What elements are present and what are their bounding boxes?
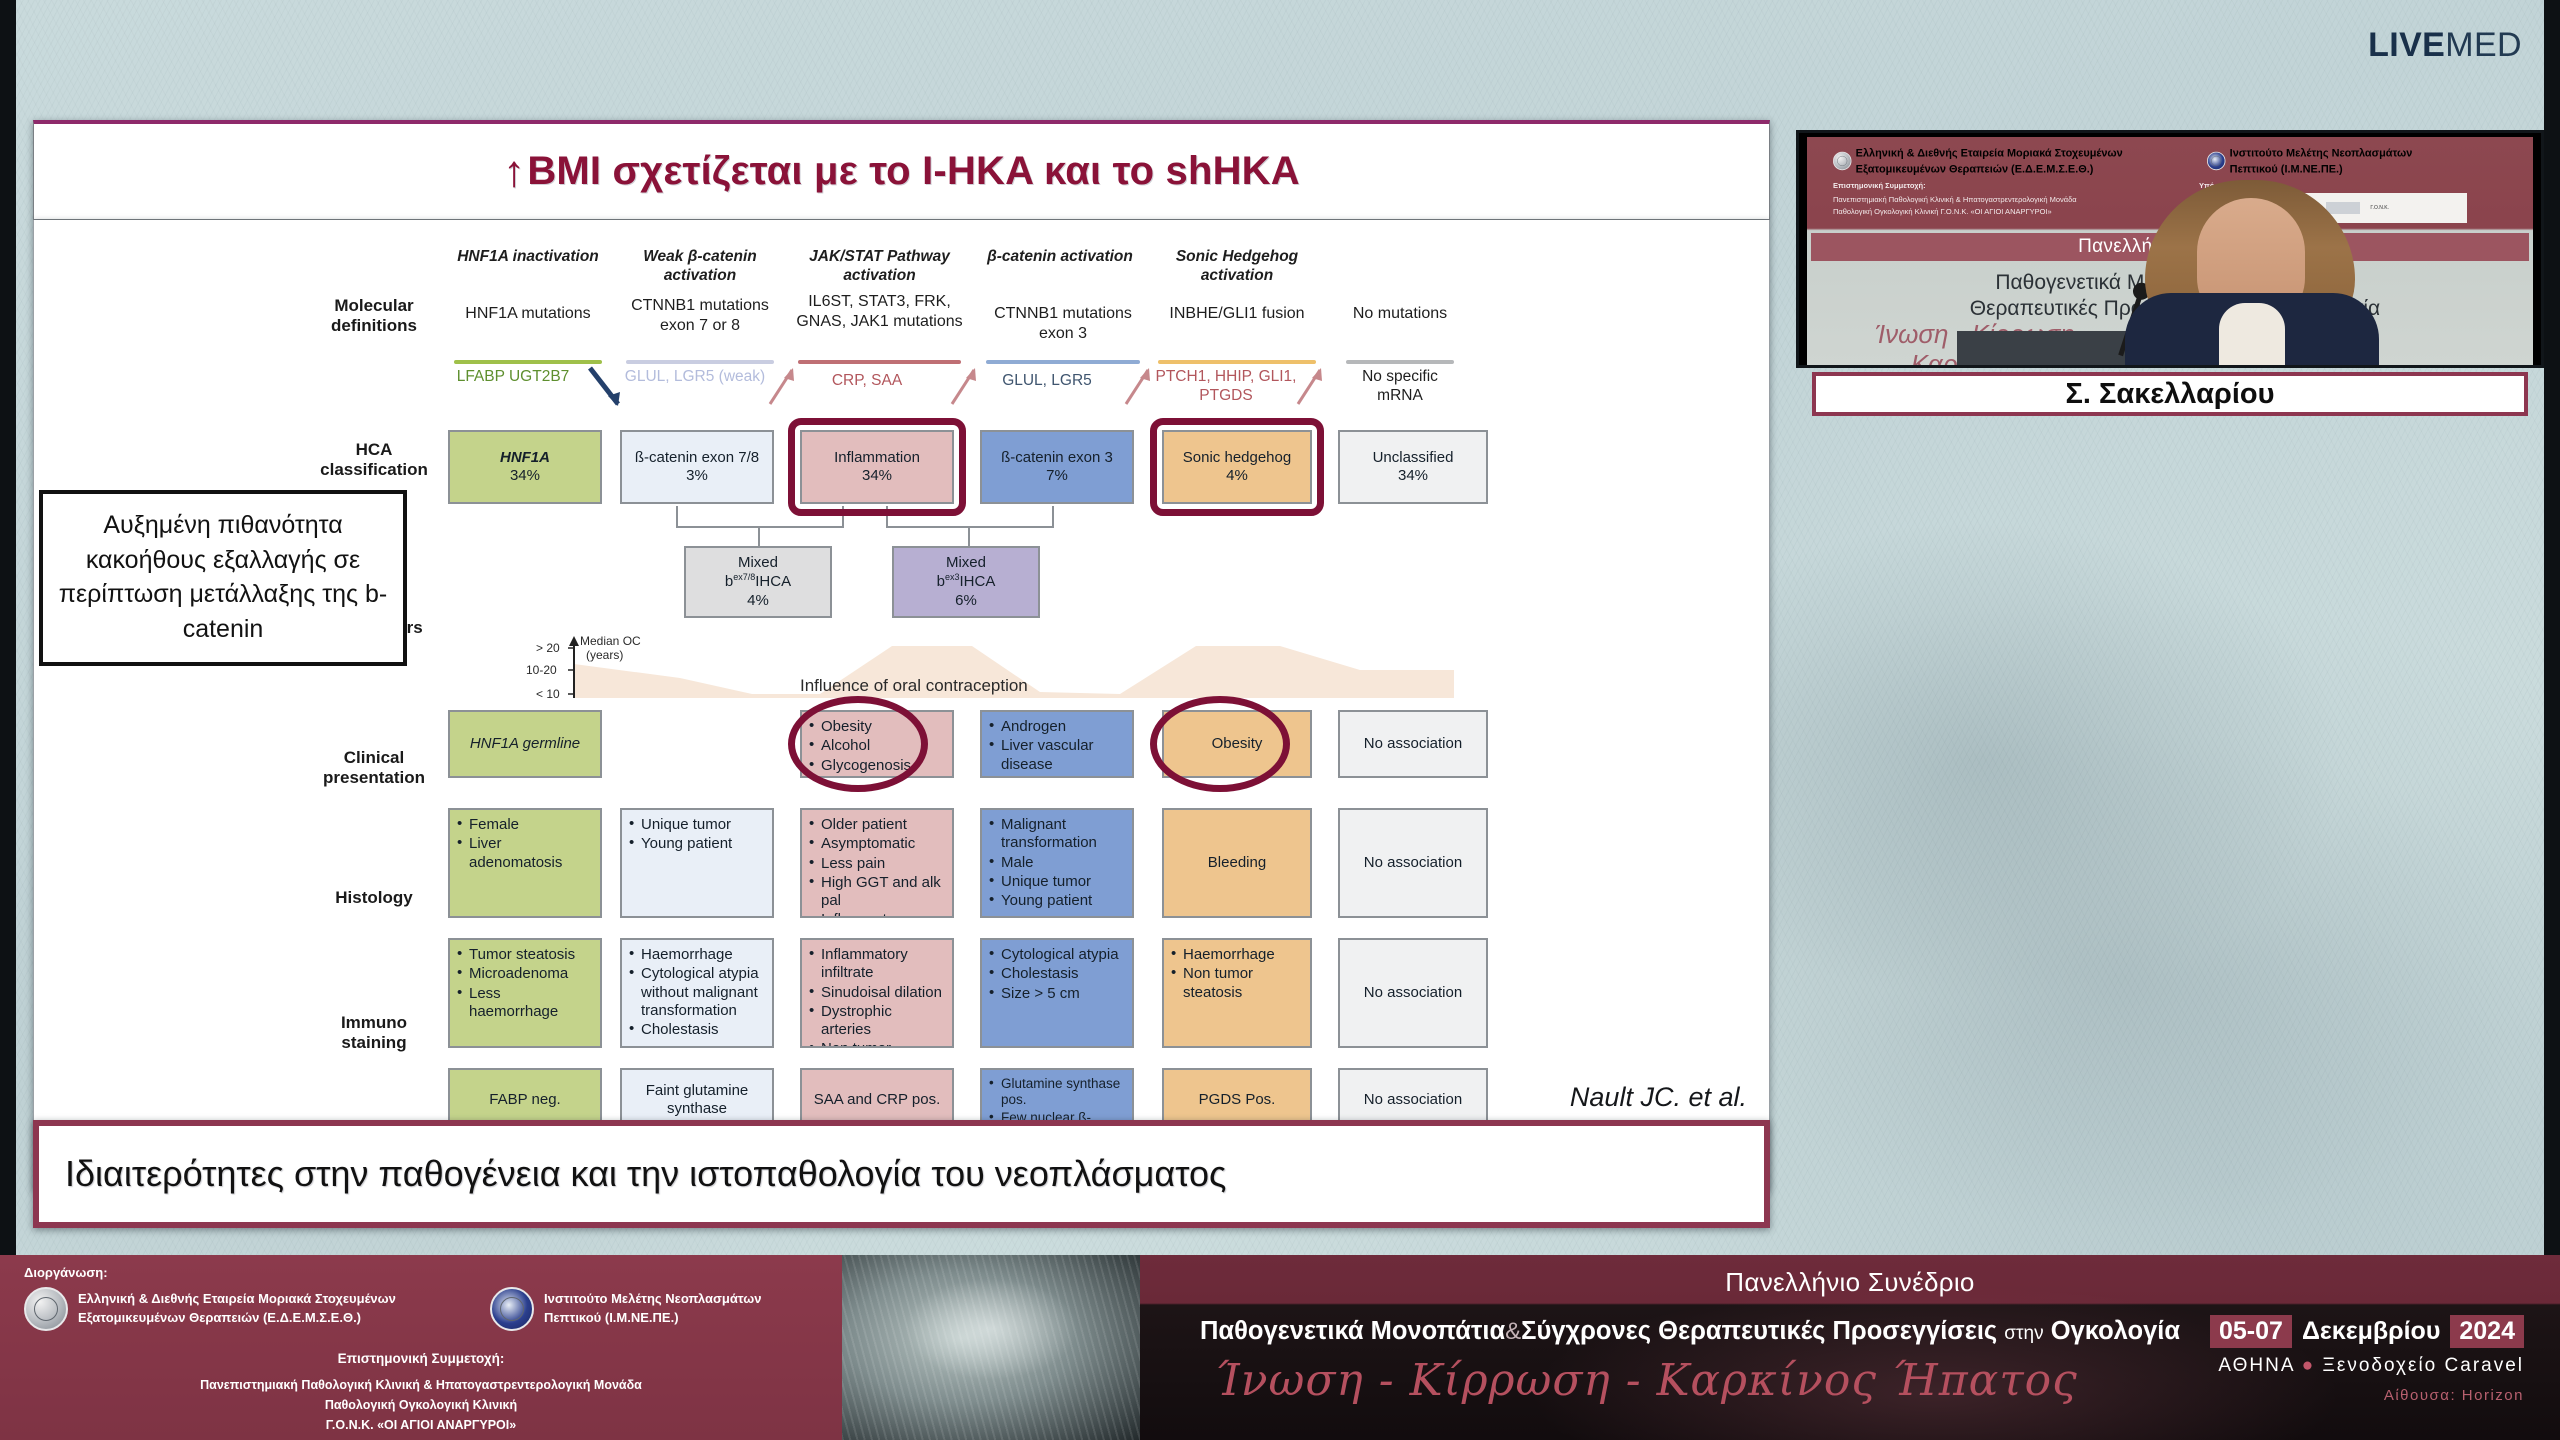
oc-tick-0: > 20 [536, 641, 560, 655]
connector-a1 [676, 506, 678, 528]
society-2-line-1: Ινστιτούτο Μελέτης Νεοπλασμάτων [544, 1290, 761, 1309]
risk-text-0: HNF1A germline [470, 735, 580, 752]
mixed-box-0: Mixed bex7/8IHCA 4% [684, 546, 832, 618]
immuno-text-2: SAA and CRP pos. [814, 1091, 940, 1109]
molecular-definition-1: CTNNB1 mutations exon 7 or 8 [620, 296, 780, 336]
hca-box-4: Sonic hedgehog4% [1162, 430, 1312, 504]
clinical-box-4: Bleeding [1162, 808, 1312, 918]
risk-box-5: No association [1338, 710, 1488, 778]
society-emblem-1-icon [1833, 152, 1851, 170]
molecular-definition-3: CTNNB1 mutations exon 3 [980, 304, 1146, 344]
histology-box-3: Cytological atypiaCholestasisSize > 5 cm [980, 938, 1134, 1048]
poster-society-1: Ελληνική & Διεθνής Εταιρεία Μοριακά Στοχ… [1833, 145, 2123, 177]
hca-box-1: ß-catenin exon 7/83% [620, 430, 774, 504]
poster-society-2-l1: Ινστιτούτο Μελέτης Νεοπλασμάτων [2230, 145, 2413, 161]
histology-item-3-1: Cholestasis [989, 965, 1125, 983]
clinical-item-2-0: Older patient [809, 816, 945, 834]
sci-line-2: Παθολογική Ογκολογική Κλινική [0, 1395, 842, 1415]
histology-item-0-1: Microadenoma [457, 965, 593, 983]
scientific-participation-label: Επιστημονική Συμμετοχή: [0, 1351, 842, 1366]
slide-caption-bar: Ιδιαιτερότητες στην παθογένεια και την ι… [33, 1120, 1770, 1228]
hca-box-3: ß-catenin exon 37% [980, 430, 1134, 504]
histology-box-4: HaemorrhageNon tumor steatosis [1162, 938, 1312, 1048]
immuno-text-1: Faint glutamine synthase [629, 1082, 765, 1119]
poster-sci-label: Επιστημονική Συμμετοχή: [1833, 181, 1926, 192]
connector-a3 [842, 506, 844, 528]
scientific-participation-text: Πανεπιστημιακή Παθολογική Κλινική & Ηπατ… [0, 1375, 842, 1435]
row-label-hca: HCA classification [314, 440, 434, 481]
banner-artwork [842, 1255, 1140, 1440]
risk-box-4: Obesity [1162, 710, 1312, 778]
slide-title: ↑BMI σχετίζεται με το I-HKA και το shHKA [34, 124, 1769, 219]
mixed-sup-0: ex7/8 [733, 572, 755, 582]
date-month: Δεκεμβρίου [2298, 1315, 2444, 1348]
clinical-item-3-0: Malignant transformation [989, 816, 1125, 853]
organizers-panel: Διοργάνωση: Ελληνική & Διεθνής Εταιρεία … [0, 1255, 842, 1440]
risk-box-3: Androgen Liver vascular disease [980, 710, 1134, 778]
mrna-arrows [440, 356, 1480, 426]
speaker-name: Σ. Σακελλαρίου [2065, 378, 2274, 411]
poster-society-1-text: Ελληνική & Διεθνής Εταιρεία Μοριακά Στοχ… [1856, 145, 2123, 177]
hca-pct-3: 7% [1046, 467, 1068, 484]
speaker-video-panel[interactable]: Ελληνική & Διεθνής Εταιρεία Μοριακά Στοχ… [1796, 130, 2544, 368]
livemed-logo-light: MED [2445, 26, 2522, 64]
histology-item-0-2: Less haemorrhage [457, 985, 593, 1022]
clinical-item-0-1: Liver adenomatosis [457, 835, 593, 872]
sci-line-1: Πανεπιστημιακή Παθολογική Κλινική & Ηπατ… [0, 1375, 842, 1395]
congress-title-a: Παθογενετικά Μονοπάτια [1200, 1317, 1505, 1345]
society-emblem-2-icon [2207, 152, 2225, 170]
histology-item-4-0: Haemorrhage [1171, 946, 1303, 964]
organizers-label: Διοργάνωση: [24, 1265, 108, 1280]
histology-item-1-0: Haemorrhage [629, 946, 765, 964]
oc-tick-1: 10-20 [526, 663, 557, 677]
speaker-nameplate: Σ. Σακελλαρίου [1812, 372, 2528, 416]
hca-pct-0: 34% [510, 467, 540, 484]
immuno-text-5: No association [1364, 1091, 1462, 1109]
oc-band-label: Influence of oral contraception [800, 676, 1028, 696]
histology-item-0-0: Tumor steatosis [457, 946, 593, 964]
poster-society-2-l2: Πεπτικού (Ι.Μ.ΝΕ.ΠΕ.) [2230, 161, 2413, 177]
speaker-figure [2123, 180, 2383, 365]
date-range: 05-07 [2210, 1315, 2292, 1348]
histology-item-2-0: Inflammatory infiltrate [809, 946, 945, 983]
risk-box-0: HNF1A germline [448, 710, 602, 778]
society-2-emblem-icon [490, 1287, 534, 1331]
hca-name-4: Sonic hedgehog [1183, 449, 1291, 466]
clinical-item-2-3: High GGT and alk pal [809, 874, 945, 911]
clinical-item-1-0: Unique tumor [629, 816, 765, 834]
hca-box-0: HNF1A34% [448, 430, 602, 504]
congress-dates: 05-07 Δεκεμβρίου 2024 [2210, 1315, 2524, 1348]
society-1-line-1: Ελληνική & Διεθνής Εταιρεία Μοριακά Στοχ… [78, 1290, 396, 1309]
risk-text-4: Obesity [1212, 735, 1263, 753]
poster-society-1-l1: Ελληνική & Διεθνής Εταιρεία Μοριακά Στοχ… [1856, 145, 2123, 161]
histology-box-2: Inflammatory infiltrateSinudoisal dilati… [800, 938, 954, 1048]
poster-sci-l2: Παθολογική Ογκολογική Κλινική Γ.Ο.Ν.Κ. «… [1833, 207, 2052, 218]
histology-item-3-2: Size > 5 cm [989, 985, 1125, 1003]
risk-item-2-0: Obesity [809, 718, 945, 736]
hca-pct-2: 34% [862, 467, 892, 484]
screen-background: LIVEMED ↑BMI σχετίζεται με το I-HKA και … [0, 0, 2560, 1440]
histology-box-1: HaemorrhageCytological atypia without ma… [620, 938, 774, 1048]
hca-pct-4: 4% [1226, 467, 1248, 484]
clinical-box-3: Malignant transformationMaleUnique tumor… [980, 808, 1134, 918]
molecular-definition-2: IL6ST, STAT3, FRK, GNAS, JAK1 mutations [792, 292, 967, 332]
congress-city: ΑΘΗΝΑ [2218, 1355, 2294, 1376]
clinical-item-3-2: Unique tumor [989, 873, 1125, 891]
immuno-text-0: FABP neg. [489, 1091, 560, 1109]
hca-pct-1: 3% [686, 467, 708, 484]
clinical-item-1-1: Young patient [629, 835, 765, 853]
mixed-l2-1: b [937, 573, 945, 590]
mixed-l1-1: Mixed [946, 554, 986, 571]
clinical-box-0: FemaleLiver adenomatosis [448, 808, 602, 918]
pathway-header-0: HNF1A inactivation [448, 248, 608, 267]
mixed-pct-0: 4% [747, 592, 769, 609]
date-year: 2024 [2450, 1315, 2524, 1348]
mixed-box-1: Mixed bex3IHCA 6% [892, 546, 1040, 618]
clinical-text-4: Bleeding [1208, 854, 1266, 872]
immuno-item-3-0: Glutamine synthase pos. [989, 1076, 1125, 1109]
bottom-banner: Διοργάνωση: Ελληνική & Διεθνής Εταιρεία … [0, 1255, 2560, 1440]
oc-tick-2: < 10 [536, 687, 560, 701]
congress-title-c: Ογκολογία [2051, 1317, 2180, 1345]
slide-body: Αυξημένη πιθανότητα κακοήθους εξαλλαγής … [33, 220, 1770, 1190]
pathway-header-1: Weak β-catenin activation [620, 248, 780, 286]
livemed-logo-bold: LIVE [2368, 26, 2445, 64]
histology-item-3-0: Cytological atypia [989, 946, 1125, 964]
pathway-header-3: β-catenin activation [980, 248, 1140, 267]
poster-society-2-text: Ινστιτούτο Μελέτης Νεοπλασμάτων Πεπτικού… [2230, 145, 2413, 177]
histology-item-2-2: Dystrophic arteries [809, 1003, 945, 1040]
connector-b3 [1052, 506, 1054, 528]
connector-b1 [886, 506, 888, 528]
molecular-definition-4: INBHE/GLI1 fusion [1152, 304, 1322, 324]
risk-item-2-1: Alcohol [809, 737, 945, 755]
annotation-box: Αυξημένη πιθανότητα κακοήθους εξαλλαγής … [39, 490, 407, 666]
clinical-item-3-3: Young patient [989, 892, 1125, 910]
up-arrow-icon: ↑ [503, 147, 525, 197]
sci-line-3: Γ.Ο.Ν.Κ. «ΟΙ ΑΓΙΟΙ ΑΝΑΡΓΥΡΟΙ» [0, 1415, 842, 1435]
congress-hotel: Ξενοδοχείο Caravel [2323, 1355, 2525, 1376]
presentation-slide: ↑BMI σχετίζεται με το I-HKA και το shHKA… [33, 120, 1770, 1227]
congress-title: Παθογενετικά Μονοπάτια&Σύγχρονες Θεραπευ… [1200, 1317, 2180, 1346]
row-label-molecular: Molecular definitions [314, 296, 434, 337]
clinical-box-1: Unique tumorYoung patient [620, 808, 774, 918]
congress-panel: Πανελλήνιο Συνέδριο Παθογενετικά Μονοπάτ… [1140, 1255, 2560, 1440]
congress-hall: Αίθουσα: Horizon [2384, 1387, 2524, 1404]
poster-society-1-l2: Εξατομικευμένων Θεραπειών (Ε.Δ.Ε.Μ.Σ.Ε.Θ… [1856, 161, 2123, 177]
oc-axis-title: Median OC [580, 634, 641, 648]
risk-box-2: Obesity Alcohol Glycogenosis [800, 710, 954, 778]
mixed-sup-1: ex3 [945, 572, 960, 582]
slide-caption: Ιδιαιτερότητες στην παθογένεια και την ι… [39, 1126, 1764, 1222]
right-letterbox [2544, 0, 2560, 1255]
congress-amp: & [1505, 1318, 1521, 1345]
histology-item-1-1: Cytological atypia without malignant tra… [629, 965, 765, 1020]
pathway-header-2: JAK/STAT Pathway activation [792, 248, 967, 286]
mixed-pct-1: 6% [955, 592, 977, 609]
hca-classification-figure: Molecular definitions HCA classification… [314, 248, 1734, 1178]
congress-handwriting: Ίνωση - Κίρρωση - Καρκίνος Ήπατος [1215, 1355, 2078, 1406]
organizer-society-2: Ινστιτούτο Μελέτης Νεοπλασμάτων Πεπτικού… [490, 1287, 761, 1331]
hca-box-5: Unclassified34% [1338, 430, 1488, 504]
row-label-immuno: Immuno staining [314, 1013, 434, 1054]
histology-text-5: No association [1364, 984, 1462, 1002]
hca-box-2: Inflammation34% [800, 430, 954, 504]
clinical-item-3-1: Male [989, 854, 1125, 872]
histology-box-0: Tumor steatosisMicroadenomaLess haemorrh… [448, 938, 602, 1048]
risk-item-3-0: Androgen [989, 718, 1125, 736]
poster-society-2: Ινστιτούτο Μελέτης Νεοπλασμάτων Πεπτικού… [2207, 145, 2412, 177]
hca-name-1: ß-catenin exon 7/8 [635, 449, 759, 466]
connector-a4 [758, 526, 760, 548]
speaker-shirt [2219, 303, 2285, 365]
left-letterbox [0, 0, 16, 1255]
organizer-society-1: Ελληνική & Διεθνής Εταιρεία Μοριακά Στοχ… [24, 1287, 396, 1331]
slide-title-text: BMI σχετίζεται με το I-HKA και το shHKA [527, 149, 1300, 194]
histology-item-2-3: Non tumor steatosis [809, 1040, 945, 1048]
clinical-item-2-2: Less pain [809, 855, 945, 873]
clinical-text-5: No association [1364, 854, 1462, 872]
congress-kicker: Πανελλήνιο Συνέδριο [1140, 1267, 2560, 1298]
congress-title-small: στην [2004, 1323, 2043, 1344]
molecular-definition-0: HNF1A mutations [448, 304, 608, 324]
congress-venue: ΑΘΗΝΑ ● Ξενοδοχείο Caravel [2218, 1355, 2524, 1377]
histology-item-4-1: Non tumor steatosis [1171, 965, 1303, 1002]
clinical-item-0-0: Female [457, 816, 593, 834]
pathway-header-4: Sonic Hedgehog activation [1152, 248, 1322, 286]
histology-box-5: No association [1338, 938, 1488, 1048]
mixed-l3-0: IHCA [755, 573, 791, 590]
risk-text-5: No association [1364, 735, 1462, 753]
clinical-item-2-1: Asymptomatic [809, 835, 945, 853]
congress-title-b: Σύγχρονες Θεραπευτικές Προσεγγίσεις [1521, 1317, 1997, 1345]
histology-item-2-1: Sinudoisal dilation [809, 984, 945, 1002]
clinical-item-2-4: Inflammatory syndrome [809, 911, 945, 918]
risk-item-2-2: Glycogenosis [809, 757, 945, 775]
hca-pct-5: 34% [1398, 467, 1428, 484]
society-2-line-2: Πεπτικού (Ι.Μ.ΝΕ.ΠΕ.) [544, 1309, 761, 1328]
hca-name-2: Inflammation [834, 449, 920, 466]
oc-axis-unit: (years) [586, 648, 623, 662]
molecular-definition-5: No mutations [1340, 304, 1460, 324]
oc-influence-chart: Median OC (years) > 20 10-20 < 10 Influe… [520, 636, 1454, 702]
immuno-text-4: PGDS Pos. [1199, 1091, 1276, 1109]
poster-sci-l1: Πανεπιστημιακή Παθολογική Κλινική & Ηπατ… [1833, 195, 2077, 206]
row-label-histology: Histology [314, 888, 434, 908]
bullet-icon: ● [2302, 1355, 2315, 1376]
hca-name-0: HNF1A [500, 449, 550, 466]
mixed-l2-0: b [725, 573, 733, 590]
hca-name-5: Unclassified [1373, 449, 1454, 466]
histology-item-1-2: Cholestasis [629, 1021, 765, 1039]
society-1-line-2: Εξατομικευμένων Θεραπειών (Ε.Δ.Ε.Μ.Σ.Ε.Θ… [78, 1309, 396, 1328]
slide-title-band: ↑BMI σχετίζεται με το I-HKA και το shHKA [33, 120, 1770, 220]
video-poster: Ελληνική & Διεθνής Εταιρεία Μοριακά Στοχ… [1807, 137, 2533, 365]
hca-name-3: ß-catenin exon 3 [1001, 449, 1113, 466]
risk-item-3-1: Liver vascular disease [989, 737, 1125, 774]
mixed-l1-0: Mixed [738, 554, 778, 571]
organizer-society-2-text: Ινστιτούτο Μελέτης Νεοπλασμάτων Πεπτικού… [544, 1290, 761, 1328]
mixed-l3-1: IHCA [960, 573, 996, 590]
row-label-clinical: Clinical presentation [314, 748, 434, 789]
society-1-emblem-icon [24, 1287, 68, 1331]
clinical-box-5: No association [1338, 808, 1488, 918]
connector-b4 [968, 526, 970, 548]
livemed-logo: LIVEMED [2368, 26, 2522, 65]
clinical-box-2: Older patientAsymptomaticLess painHigh G… [800, 808, 954, 918]
organizer-society-1-text: Ελληνική & Διεθνής Εταιρεία Μοριακά Στοχ… [78, 1290, 396, 1328]
